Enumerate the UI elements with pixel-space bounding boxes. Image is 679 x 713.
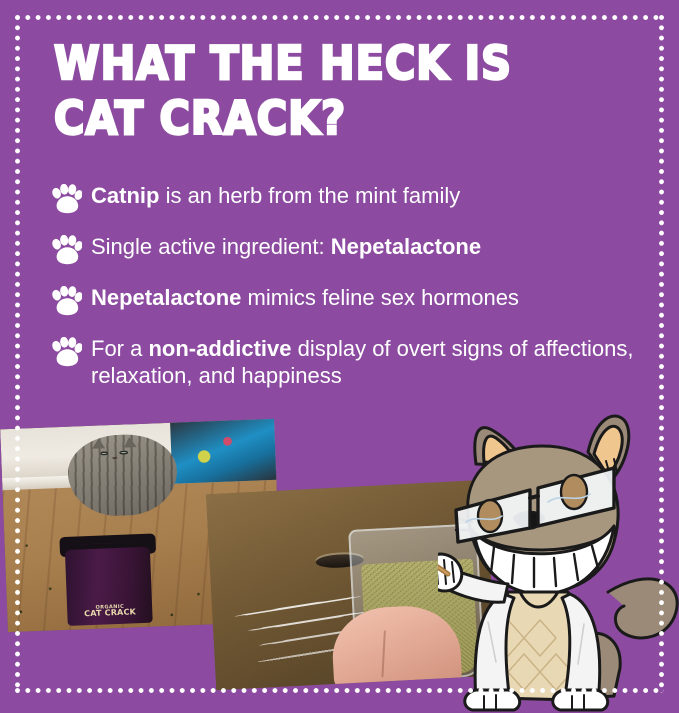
paw-print-icon (50, 286, 82, 316)
list-item-rest: is an herb from the mint family (159, 183, 460, 208)
poster-canvas: ORGANIC CAT CRACK (0, 0, 679, 713)
photo1-cat-ear-left (92, 438, 106, 449)
jar-label-catcrack: CAT CRACK (84, 607, 136, 618)
page-title-line-1: WHAT THE HECK IS (54, 36, 614, 91)
list-item-bold: non-addictive (148, 336, 291, 361)
photo1-catnip-jar: ORGANIC CAT CRACK (65, 541, 153, 625)
list-item-label: Nepetalactone mimics feline sex hormones (91, 284, 519, 311)
list-item-bold: Catnip (91, 183, 159, 208)
paw-print-icon (50, 337, 82, 367)
list-item: Single active ingredient: Nepetalactone (50, 233, 650, 265)
photo1-cat-eye-right (119, 450, 128, 454)
fact-list: Catnip is an herb from the mint family S… (50, 182, 650, 389)
list-item-label: Catnip is an herb from the mint family (91, 182, 460, 209)
page-title: WHAT THE HECK IS CAT CRACK? (54, 36, 614, 146)
list-item-rest: For a (91, 336, 148, 361)
list-item: Nepetalactone mimics feline sex hormones (50, 284, 650, 316)
page-title-line-2: CAT CRACK? (54, 91, 614, 146)
list-item: Catnip is an herb from the mint family (50, 182, 650, 214)
photo1-cat-eye-left (100, 451, 109, 455)
list-item-label: Single active ingredient: Nepetalactone (91, 233, 481, 260)
list-item-bold: Nepetalactone (331, 234, 481, 259)
paw-print-icon (50, 184, 82, 214)
list-item-bold: Nepetalactone (91, 285, 241, 310)
paw-print-icon (50, 235, 82, 265)
photo1-cat-nose (112, 457, 118, 460)
photo1-jar-label: ORGANIC CAT CRACK (67, 602, 152, 618)
list-item-rest: mimics feline sex hormones (241, 285, 519, 310)
list-item: For a non-addictive display of overt sig… (50, 335, 650, 389)
list-item-rest: Single active ingredient: (91, 234, 331, 259)
list-item-label: For a non-addictive display of overt sig… (91, 335, 650, 389)
photo1-cat-ear-right (123, 437, 137, 448)
dotted-frame-top (15, 15, 664, 20)
professor-cat-mascot (438, 406, 679, 713)
